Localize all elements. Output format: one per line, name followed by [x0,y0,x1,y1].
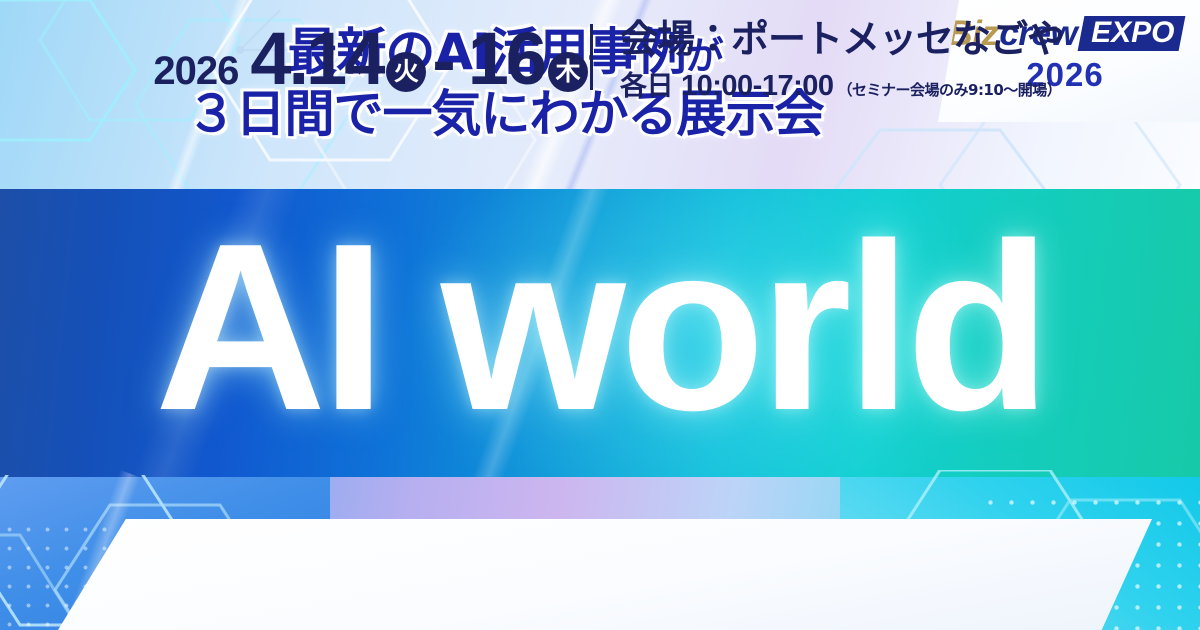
event-date: 2026 4.14 火 - 16 木 [22,20,592,100]
venue-hours-note: （セミナー会場のみ9:10〜開場） [838,79,1062,100]
date-start-dayofweek-badge: 火 [386,52,426,92]
logo-expo-badge: EXPO [1078,16,1186,51]
date-end-dayofweek-badge: 木 [548,52,588,92]
venue-info: 会場：ポートメッセなごや 各日 10:00-17:00 （セミナー会場のみ9:1… [620,18,1064,103]
logo-expo-text: EXPO [1091,18,1174,48]
venue-hours: 10:00-17:00 [681,70,834,103]
event-title: AI world [0,189,1200,477]
date-range-dash: - [432,20,453,100]
info-divider [590,24,593,90]
poster-canvas: BizcrewEXPO 2026 最新のAI活用事例が ３日間で一気にわかる展示… [0,0,1200,630]
date-year: 2026 [153,49,238,94]
venue-name: 会場：ポートメッセなごや [620,18,1064,61]
date-start: 4.14 [250,22,382,96]
venue-hours-row: 各日 10:00-17:00 （セミナー会場のみ9:10〜開場） [620,64,1064,103]
event-info-panel [58,519,1152,630]
venue-days-label: 各日 [620,64,673,103]
main-title-band: AI world [0,189,1200,477]
date-end: 16 [468,22,544,96]
